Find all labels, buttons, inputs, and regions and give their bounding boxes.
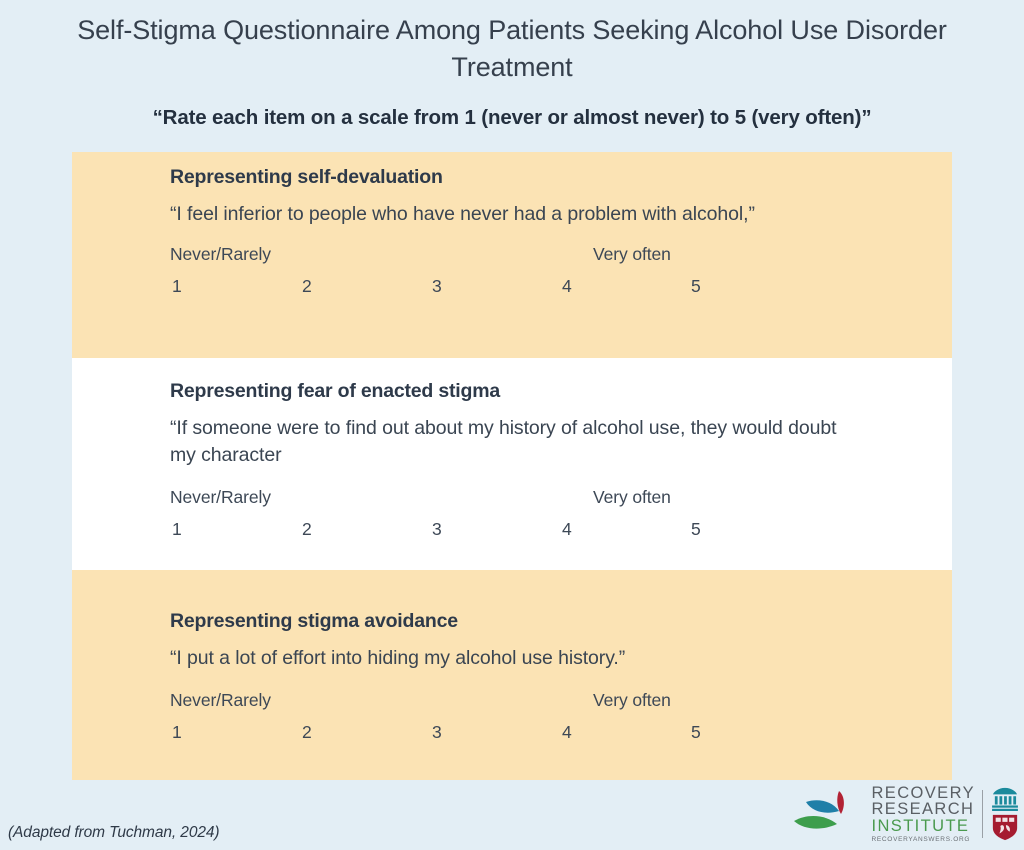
three-leaf-swoosh-icon [792,789,864,839]
scale-endpoint-labels: Never/Rarely Very often [170,244,932,270]
panel-quote: “If someone were to find out about my hi… [170,415,860,469]
likert-option-3[interactable]: 3 [432,276,442,297]
questionnaire-panel-fear-of-enacted-stigma: Representing fear of enacted stigma “If … [72,358,952,570]
panel-quote: “I put a lot of effort into hiding my al… [170,645,860,672]
likert-option-1[interactable]: 1 [172,519,182,540]
panel-heading: Representing fear of enacted stigma [170,380,932,403]
scale-endpoint-labels: Never/Rarely Very often [170,487,932,513]
likert-scale-options: 1 2 3 4 5 [170,276,932,304]
likert-option-5[interactable]: 5 [691,519,701,540]
scale-high-label: Very often [593,690,671,711]
logo-wordmark: RECOVERY RESEARCH INSTITUTE RECOVERYANSW… [871,785,975,844]
likert-option-1[interactable]: 1 [172,722,182,743]
panel-quote: “I feel inferior to people who have neve… [170,201,860,228]
likert-option-4[interactable]: 4 [562,519,572,540]
panel-heading: Representing stigma avoidance [170,610,932,633]
scale-low-label: Never/Rarely [170,487,271,508]
likert-scale-options: 1 2 3 4 5 [170,519,932,547]
recovery-research-institute-logo: RECOVERY RESEARCH INSTITUTE RECOVERYANSW… [792,784,1020,844]
page-title: Self-Stigma Questionnaire Among Patients… [62,0,962,86]
harvard-shield-icon [991,813,1019,841]
mgh-building-icon [991,787,1019,811]
source-citation: (Adapted from Tuchman, 2024) [8,824,219,842]
scale-low-label: Never/Rarely [170,244,271,265]
logo-line-recovery: RECOVERY [871,785,975,802]
likert-option-5[interactable]: 5 [691,276,701,297]
questionnaire-panel-list: Representing self-devaluation “I feel in… [72,152,952,780]
scale-low-label: Never/Rarely [170,690,271,711]
likert-option-3[interactable]: 3 [432,722,442,743]
logo-line-research: RESEARCH [871,801,975,818]
likert-option-3[interactable]: 3 [432,519,442,540]
page-subtitle: “Rate each item on a scale from 1 (never… [32,86,992,130]
scale-high-label: Very often [593,487,671,508]
scale-high-label: Very often [593,244,671,265]
logo-divider [982,790,983,838]
questionnaire-panel-stigma-avoidance: Representing stigma avoidance “I put a l… [72,570,952,780]
likert-option-2[interactable]: 2 [302,519,312,540]
questionnaire-panel-self-devaluation: Representing self-devaluation “I feel in… [72,152,952,358]
logo-url: RECOVERYANSWERS.ORG [871,837,975,844]
likert-option-5[interactable]: 5 [691,722,701,743]
likert-option-1[interactable]: 1 [172,276,182,297]
likert-scale-options: 1 2 3 4 5 [170,722,932,750]
affiliation-crest-group [990,786,1020,842]
scale-endpoint-labels: Never/Rarely Very often [170,690,932,716]
likert-option-4[interactable]: 4 [562,276,572,297]
likert-option-2[interactable]: 2 [302,722,312,743]
likert-option-4[interactable]: 4 [562,722,572,743]
likert-option-2[interactable]: 2 [302,276,312,297]
panel-heading: Representing self-devaluation [170,166,932,189]
logo-line-institute: INSTITUTE [871,818,975,835]
